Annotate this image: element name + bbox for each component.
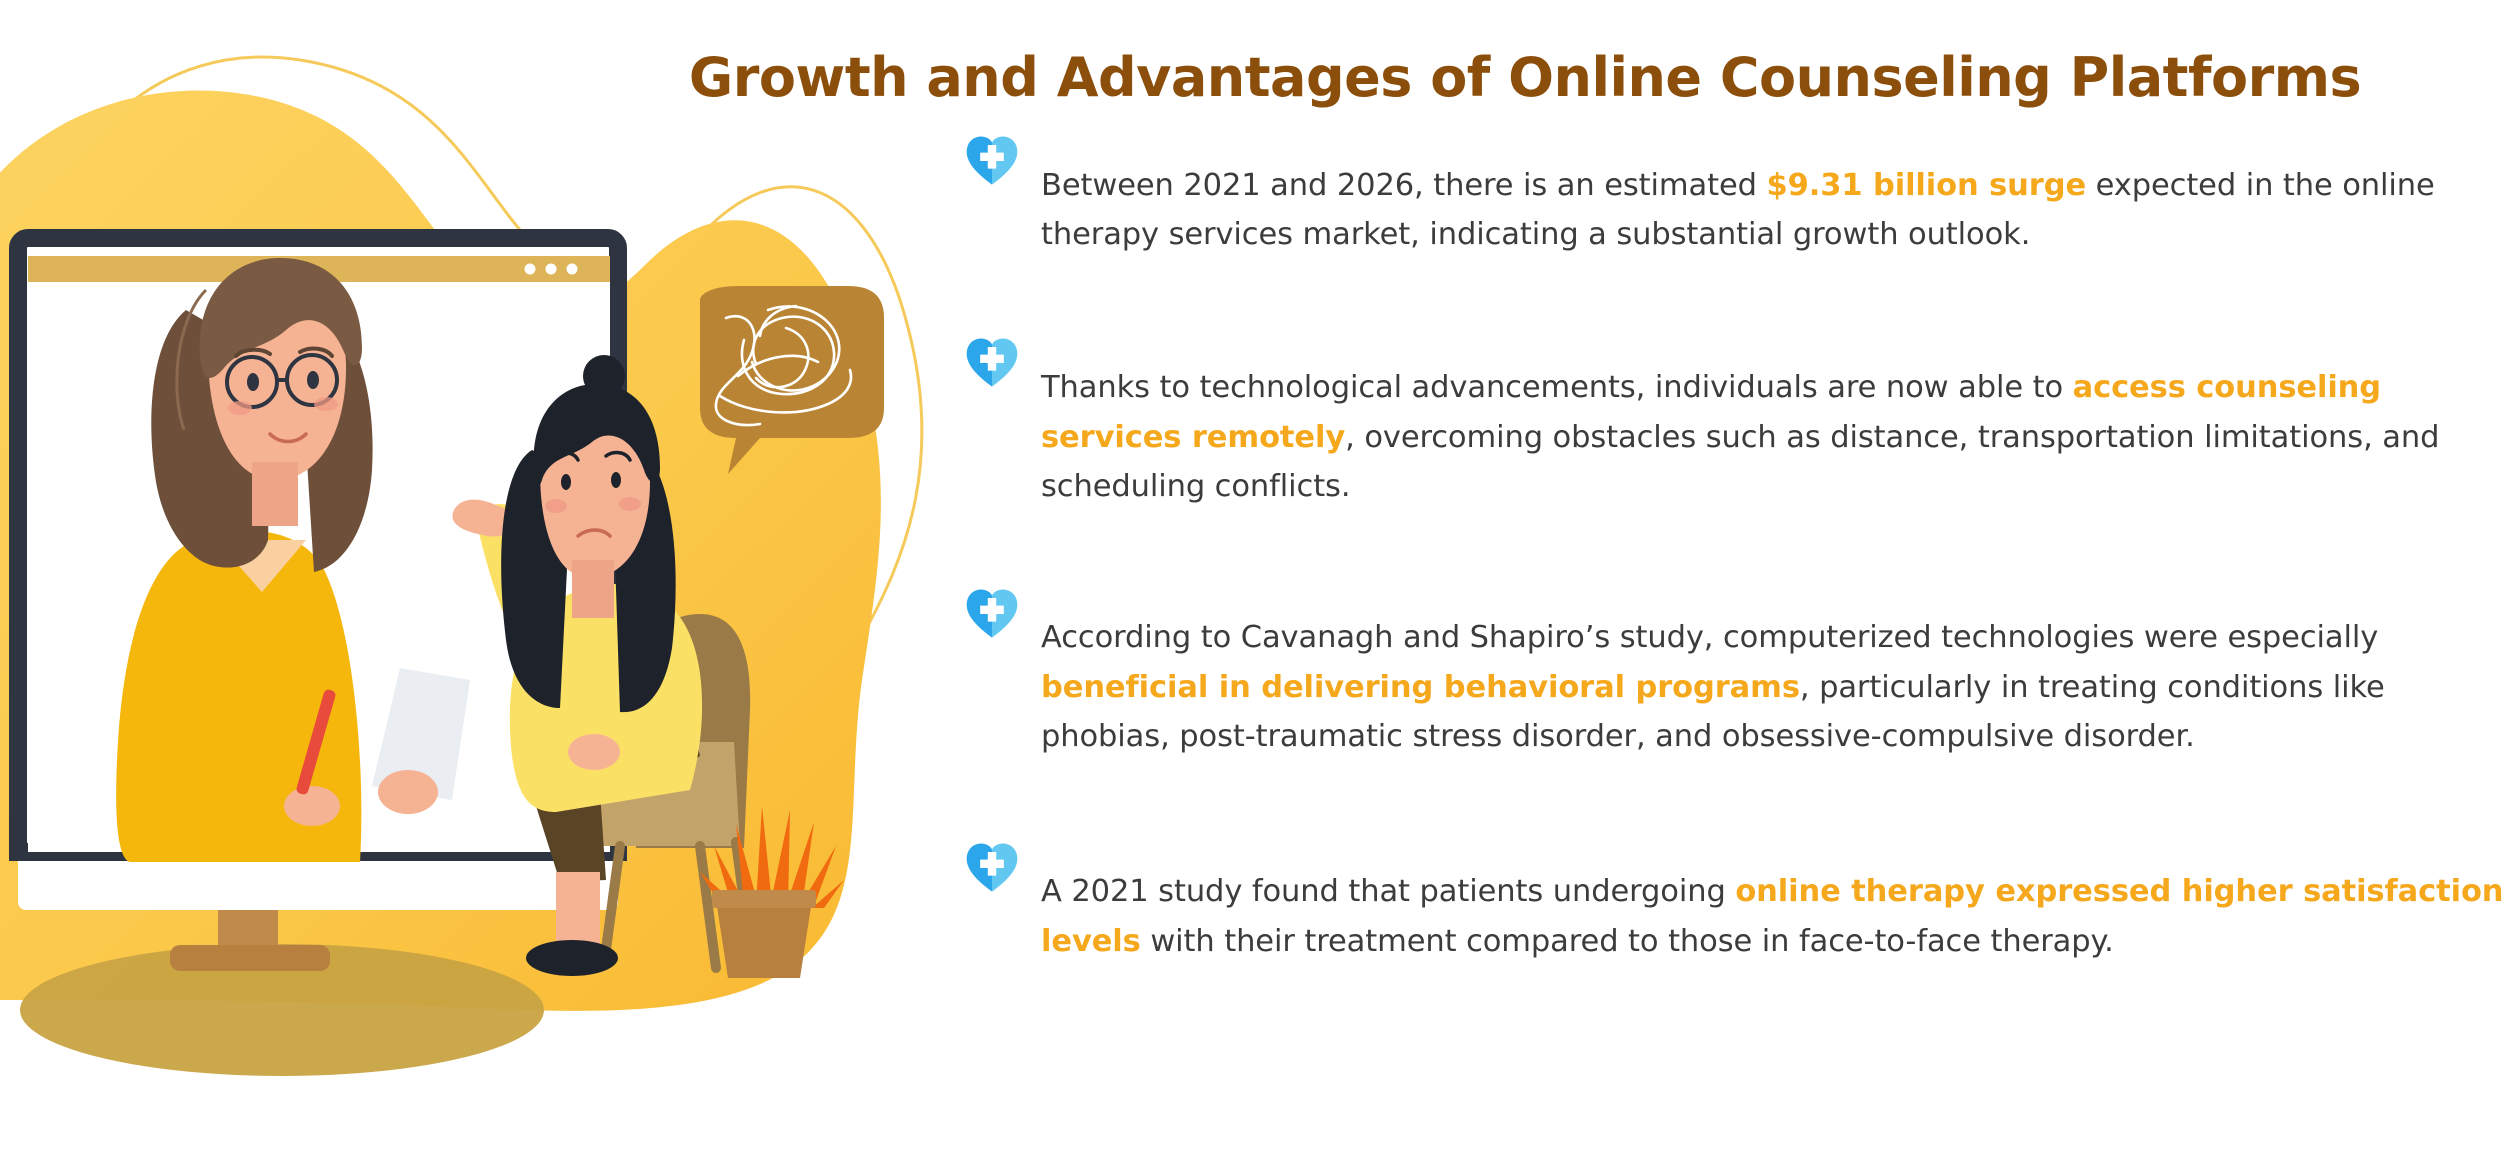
counselor-cheek-right bbox=[314, 397, 338, 411]
fact-text-plain: Between 2021 and 2026, there is an estim… bbox=[1041, 168, 1766, 203]
counselor-eye-right bbox=[307, 371, 319, 389]
client-eye-right bbox=[611, 472, 621, 488]
fact-text: According to Cavanagh and Shapiro’s stud… bbox=[1041, 613, 2510, 762]
counselor-eye-left bbox=[247, 373, 259, 391]
counselor-hand-right bbox=[378, 770, 438, 814]
client-cheek-left bbox=[545, 499, 567, 513]
fact-text-plain: Thanks to technological advancements, in… bbox=[1041, 370, 2073, 405]
heart-cross-icon bbox=[965, 587, 1019, 641]
fact-text-highlight: $9.31 billion surge bbox=[1766, 168, 2086, 203]
list-item: According to Cavanagh and Shapiro’s stud… bbox=[965, 583, 2510, 793]
heart-cross-icon bbox=[965, 134, 1019, 188]
facts-list: Between 2021 and 2026, there is an estim… bbox=[965, 130, 2510, 997]
monitor-stand-foot bbox=[170, 945, 330, 971]
counseling-illustration bbox=[0, 0, 960, 1165]
client-eye-left bbox=[561, 474, 571, 490]
browser-dot-3 bbox=[567, 264, 578, 275]
client-shoe bbox=[526, 940, 618, 976]
client-cheek-right bbox=[619, 497, 641, 511]
fact-text-highlight: beneficial in delivering behavioral prog… bbox=[1041, 670, 1800, 705]
plant-pot bbox=[716, 900, 812, 978]
counselor-hand-left bbox=[284, 786, 340, 826]
client-hair-bun bbox=[583, 355, 625, 397]
browser-dot-1 bbox=[525, 264, 536, 275]
infographic-root: Growth and Advantages of Online Counseli… bbox=[0, 0, 2520, 1165]
fact-text: A 2021 study found that patients undergo… bbox=[1041, 867, 2510, 966]
heart-cross-icon bbox=[965, 336, 1019, 390]
counselor-cheek-left bbox=[228, 401, 252, 415]
counselor-neck bbox=[252, 462, 298, 526]
page-title: Growth and Advantages of Online Counseli… bbox=[545, 48, 2505, 107]
fact-text-plain: with their treatment compared to those i… bbox=[1141, 924, 2114, 959]
heart-cross-icon bbox=[965, 841, 1019, 895]
fact-text-plain: A 2021 study found that patients undergo… bbox=[1041, 874, 1735, 909]
client-neck bbox=[572, 560, 614, 618]
list-item: Between 2021 and 2026, there is an estim… bbox=[965, 130, 2510, 290]
client-hand-resting bbox=[568, 734, 620, 770]
browser-dot-2 bbox=[546, 264, 557, 275]
fact-text: Between 2021 and 2026, there is an estim… bbox=[1041, 161, 2510, 260]
plant-pot-rim bbox=[712, 890, 816, 908]
fact-text: Thanks to technological advancements, in… bbox=[1041, 363, 2510, 512]
list-item: A 2021 study found that patients undergo… bbox=[965, 837, 2510, 997]
fact-text-plain: According to Cavanagh and Shapiro’s stud… bbox=[1041, 620, 2378, 655]
illustration-panel bbox=[0, 0, 960, 1165]
list-item: Thanks to technological advancements, in… bbox=[965, 332, 2510, 542]
